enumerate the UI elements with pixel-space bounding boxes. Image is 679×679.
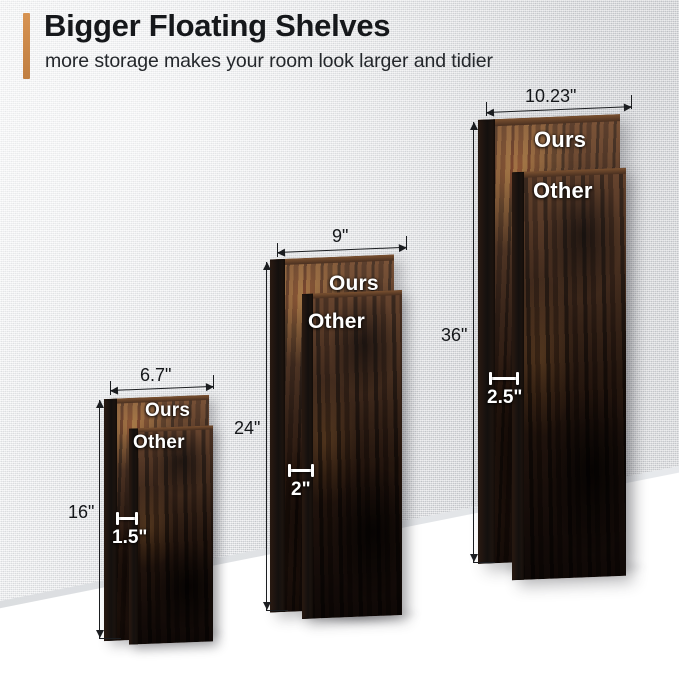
dim-thickness-large-label: 2.5" — [487, 387, 522, 409]
shelf-other-large-face — [512, 168, 626, 581]
dim-height-medium-tick-bottom — [266, 610, 288, 611]
dim-thickness-medium-cap-right — [311, 464, 314, 477]
dim-width-medium-label: 9" — [332, 226, 348, 247]
dim-width-large-label: 10.23" — [525, 86, 576, 107]
infographic-scene: Bigger Floating Shelves more storage mak… — [0, 0, 679, 679]
shelf-ours-medium-side — [270, 259, 285, 613]
dim-thickness-large-bar — [489, 377, 519, 380]
dim-height-large-tick-bottom — [473, 562, 495, 563]
accent-bar — [23, 13, 30, 79]
shelf-ours-large-label: Ours — [534, 127, 586, 153]
dim-thickness-small-label: 1.5" — [112, 527, 147, 549]
dim-height-small-arrow — [99, 400, 100, 638]
page-title: Bigger Floating Shelves — [44, 8, 390, 44]
dim-thickness-medium-label: 2" — [291, 479, 311, 501]
shelf-ours-large-side — [478, 119, 495, 564]
page-subtitle: more storage makes your room look larger… — [45, 50, 493, 73]
dim-height-medium-label: 24" — [234, 418, 260, 439]
dim-thickness-small-cap-left — [116, 512, 119, 525]
shelf-other-medium-side — [302, 294, 313, 619]
dim-thickness-large-cap-left — [489, 372, 492, 385]
shelf-other-large — [512, 168, 626, 581]
header: Bigger Floating Shelves more storage mak… — [0, 0, 679, 92]
dim-height-medium-arrow — [266, 262, 267, 610]
dim-height-small-tick-bottom — [99, 638, 121, 639]
dim-thickness-medium-cap-left — [288, 464, 291, 477]
shelf-other-medium-face — [302, 290, 402, 619]
shelf-other-small-label: Other — [133, 432, 185, 454]
dim-width-small-label: 6.7" — [140, 365, 171, 386]
dim-thickness-small-cap-right — [135, 512, 138, 525]
shelf-other-medium-label: Other — [308, 310, 365, 334]
shelf-ours-small-label: Ours — [145, 400, 190, 422]
dim-thickness-large-cap-right — [516, 372, 519, 385]
dim-height-large-label: 36" — [441, 325, 467, 346]
shelf-other-large-label: Other — [533, 178, 593, 204]
shelf-other-medium — [302, 290, 402, 619]
dim-height-large-arrow — [473, 122, 474, 562]
dim-height-small-label: 16" — [68, 502, 94, 523]
